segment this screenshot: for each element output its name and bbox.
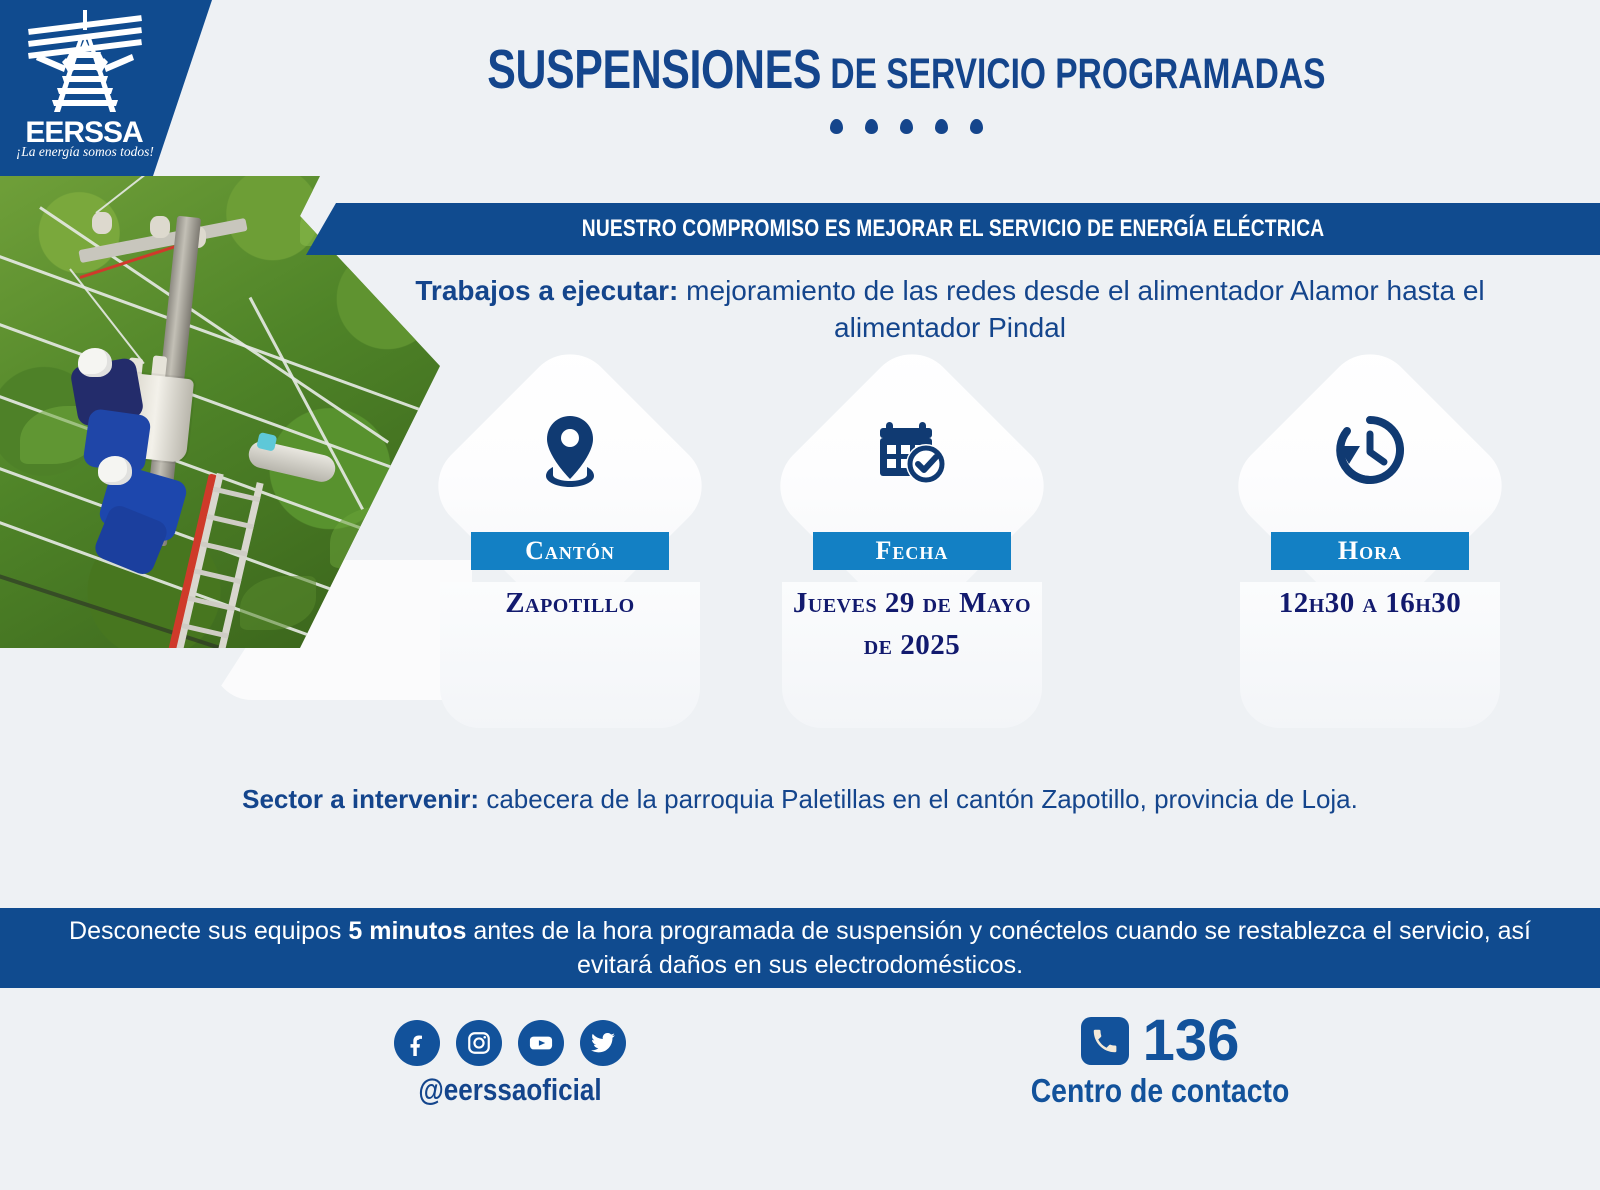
instagram-icon[interactable] bbox=[456, 1020, 502, 1066]
calendar-check-icon bbox=[872, 410, 952, 490]
youtube-icon[interactable] bbox=[518, 1020, 564, 1066]
card-label: Cantón bbox=[471, 532, 669, 570]
commitment-text: NUESTRO COMPROMISO ES MEJORAR EL SERVICI… bbox=[582, 215, 1324, 243]
contact-label: Centro de contacto bbox=[988, 1072, 1332, 1110]
info-card-hora: Hora 12h30 a 16h30 bbox=[1210, 368, 1530, 728]
sector-label: Sector a intervenir: bbox=[242, 784, 479, 814]
works-label: Trabajos a ejecutar: bbox=[415, 275, 678, 306]
page-footer: @eerssaoficial 136 Centro de contacto bbox=[0, 988, 1600, 1190]
card-label: Fecha bbox=[813, 532, 1011, 570]
contact-block: 136 Centro de contacto bbox=[960, 1012, 1360, 1110]
card-label: Hora bbox=[1271, 532, 1469, 570]
contact-row: 136 bbox=[960, 1012, 1360, 1070]
brand-slogan: ¡La energía somos todos! bbox=[10, 145, 160, 159]
page-title-rest: DE SERVICIO PROGRAMADAS bbox=[821, 50, 1325, 98]
clock-restore-icon bbox=[1330, 410, 1410, 490]
phone-number: 136 bbox=[1143, 1012, 1240, 1070]
advisory-part1: Desconecte sus equipos bbox=[69, 917, 348, 945]
works-text: mejoramiento de las redes desde el alime… bbox=[678, 275, 1484, 343]
page-title: SUSPENSIONES DE SERVICIO PROGRAMADAS bbox=[487, 42, 1325, 97]
card-value: Jueves 29 de Mayo de 2025 bbox=[782, 582, 1042, 667]
sector-description: Sector a intervenir: cabecera de la parr… bbox=[120, 784, 1480, 815]
decorative-dots bbox=[830, 119, 983, 134]
facebook-icon[interactable] bbox=[394, 1020, 440, 1066]
page-header: SUSPENSIONES DE SERVICIO PROGRAMADAS bbox=[212, 0, 1600, 176]
location-pin-icon bbox=[530, 410, 610, 490]
commitment-banner: NUESTRO COMPROMISO ES MEJORAR EL SERVICI… bbox=[306, 203, 1600, 255]
brand-logo-panel: EERSSA ¡La energía somos todos! bbox=[0, 0, 212, 176]
sector-text: cabecera de la parroquia Paletillas en e… bbox=[479, 784, 1358, 814]
advisory-highlight: 5 minutos bbox=[348, 917, 466, 945]
card-value: Zapotillo bbox=[440, 582, 700, 624]
card-value: 12h30 a 16h30 bbox=[1240, 582, 1500, 624]
social-icon-row bbox=[380, 1020, 640, 1066]
info-card-fecha: Fecha Jueves 29 de Mayo de 2025 bbox=[752, 368, 1072, 728]
advisory-text: Desconecte sus equipos 5 minutos antes d… bbox=[60, 914, 1540, 982]
advisory-banner: Desconecte sus equipos 5 minutos antes d… bbox=[0, 908, 1600, 988]
transmission-tower-icon bbox=[22, 8, 148, 126]
phone-icon bbox=[1081, 1017, 1129, 1065]
social-handle[interactable]: @eerssaoficial bbox=[401, 1072, 619, 1108]
twitter-icon[interactable] bbox=[580, 1020, 626, 1066]
info-cards: Cantón Zapotillo Fecha Jueves 29 de Mayo… bbox=[380, 368, 1580, 728]
social-block: @eerssaoficial bbox=[380, 1020, 640, 1108]
info-card-canton: Cantón Zapotillo bbox=[410, 368, 730, 728]
works-description: Trabajos a ejecutar: mejoramiento de las… bbox=[370, 272, 1530, 346]
advisory-part2: antes de la hora programada de suspensió… bbox=[466, 917, 1531, 979]
page-title-strong: SUSPENSIONES bbox=[487, 38, 821, 100]
